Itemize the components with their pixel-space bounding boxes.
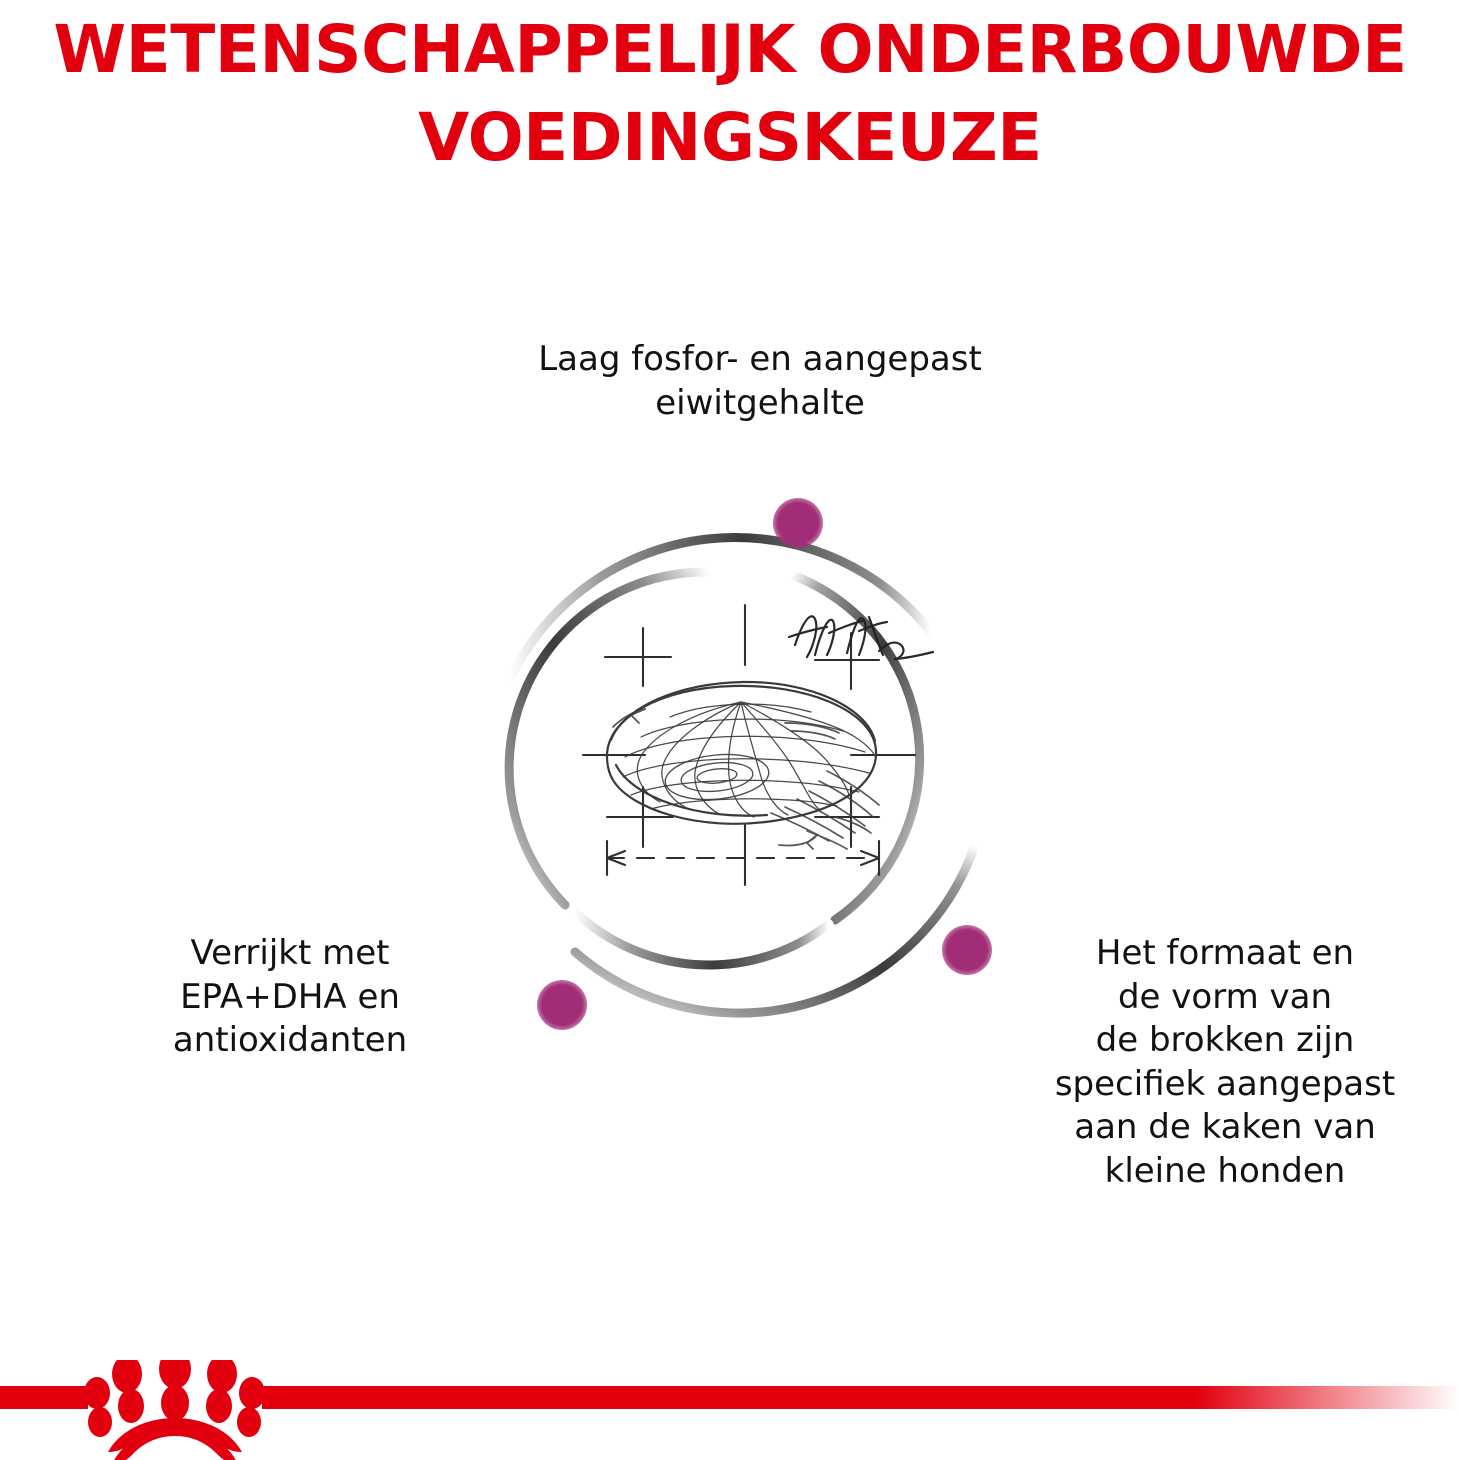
node-dot-left xyxy=(537,980,587,1030)
brand-footer xyxy=(0,1360,1460,1460)
brand-bar-left xyxy=(0,1386,88,1409)
inner-ring-arc-bottom xyxy=(575,912,829,965)
inner-ring-arc-left xyxy=(509,572,710,905)
feature-caption-top: Laag fosfor- en aangepast eiwitgehalte xyxy=(430,338,1090,425)
feature-caption-right: Het formaat en de vorm van de brokken zi… xyxy=(1000,932,1450,1193)
node-dot-top xyxy=(773,498,823,548)
node-dot-right xyxy=(942,925,992,975)
outer-ring-arc-lower xyxy=(575,845,975,1013)
poster-root: WETENSCHAPPELIJK ONDERBOUWDE VOEDINGSKEU… xyxy=(0,0,1460,1460)
kibble-sketch xyxy=(583,605,933,885)
outer-ring-arc-upper xyxy=(510,537,931,679)
page-title: WETENSCHAPPELIJK ONDERBOUWDE VOEDINGSKEU… xyxy=(0,6,1460,183)
dimension-line xyxy=(607,841,879,875)
kibble-diagram xyxy=(455,465,1035,1085)
royal-canin-crown-logo xyxy=(84,1360,265,1460)
brand-bar-right xyxy=(262,1386,1460,1409)
feature-caption-left: Verrijkt met EPA+DHA en antioxidanten xyxy=(80,932,500,1063)
kibble-center-detail xyxy=(663,750,771,805)
